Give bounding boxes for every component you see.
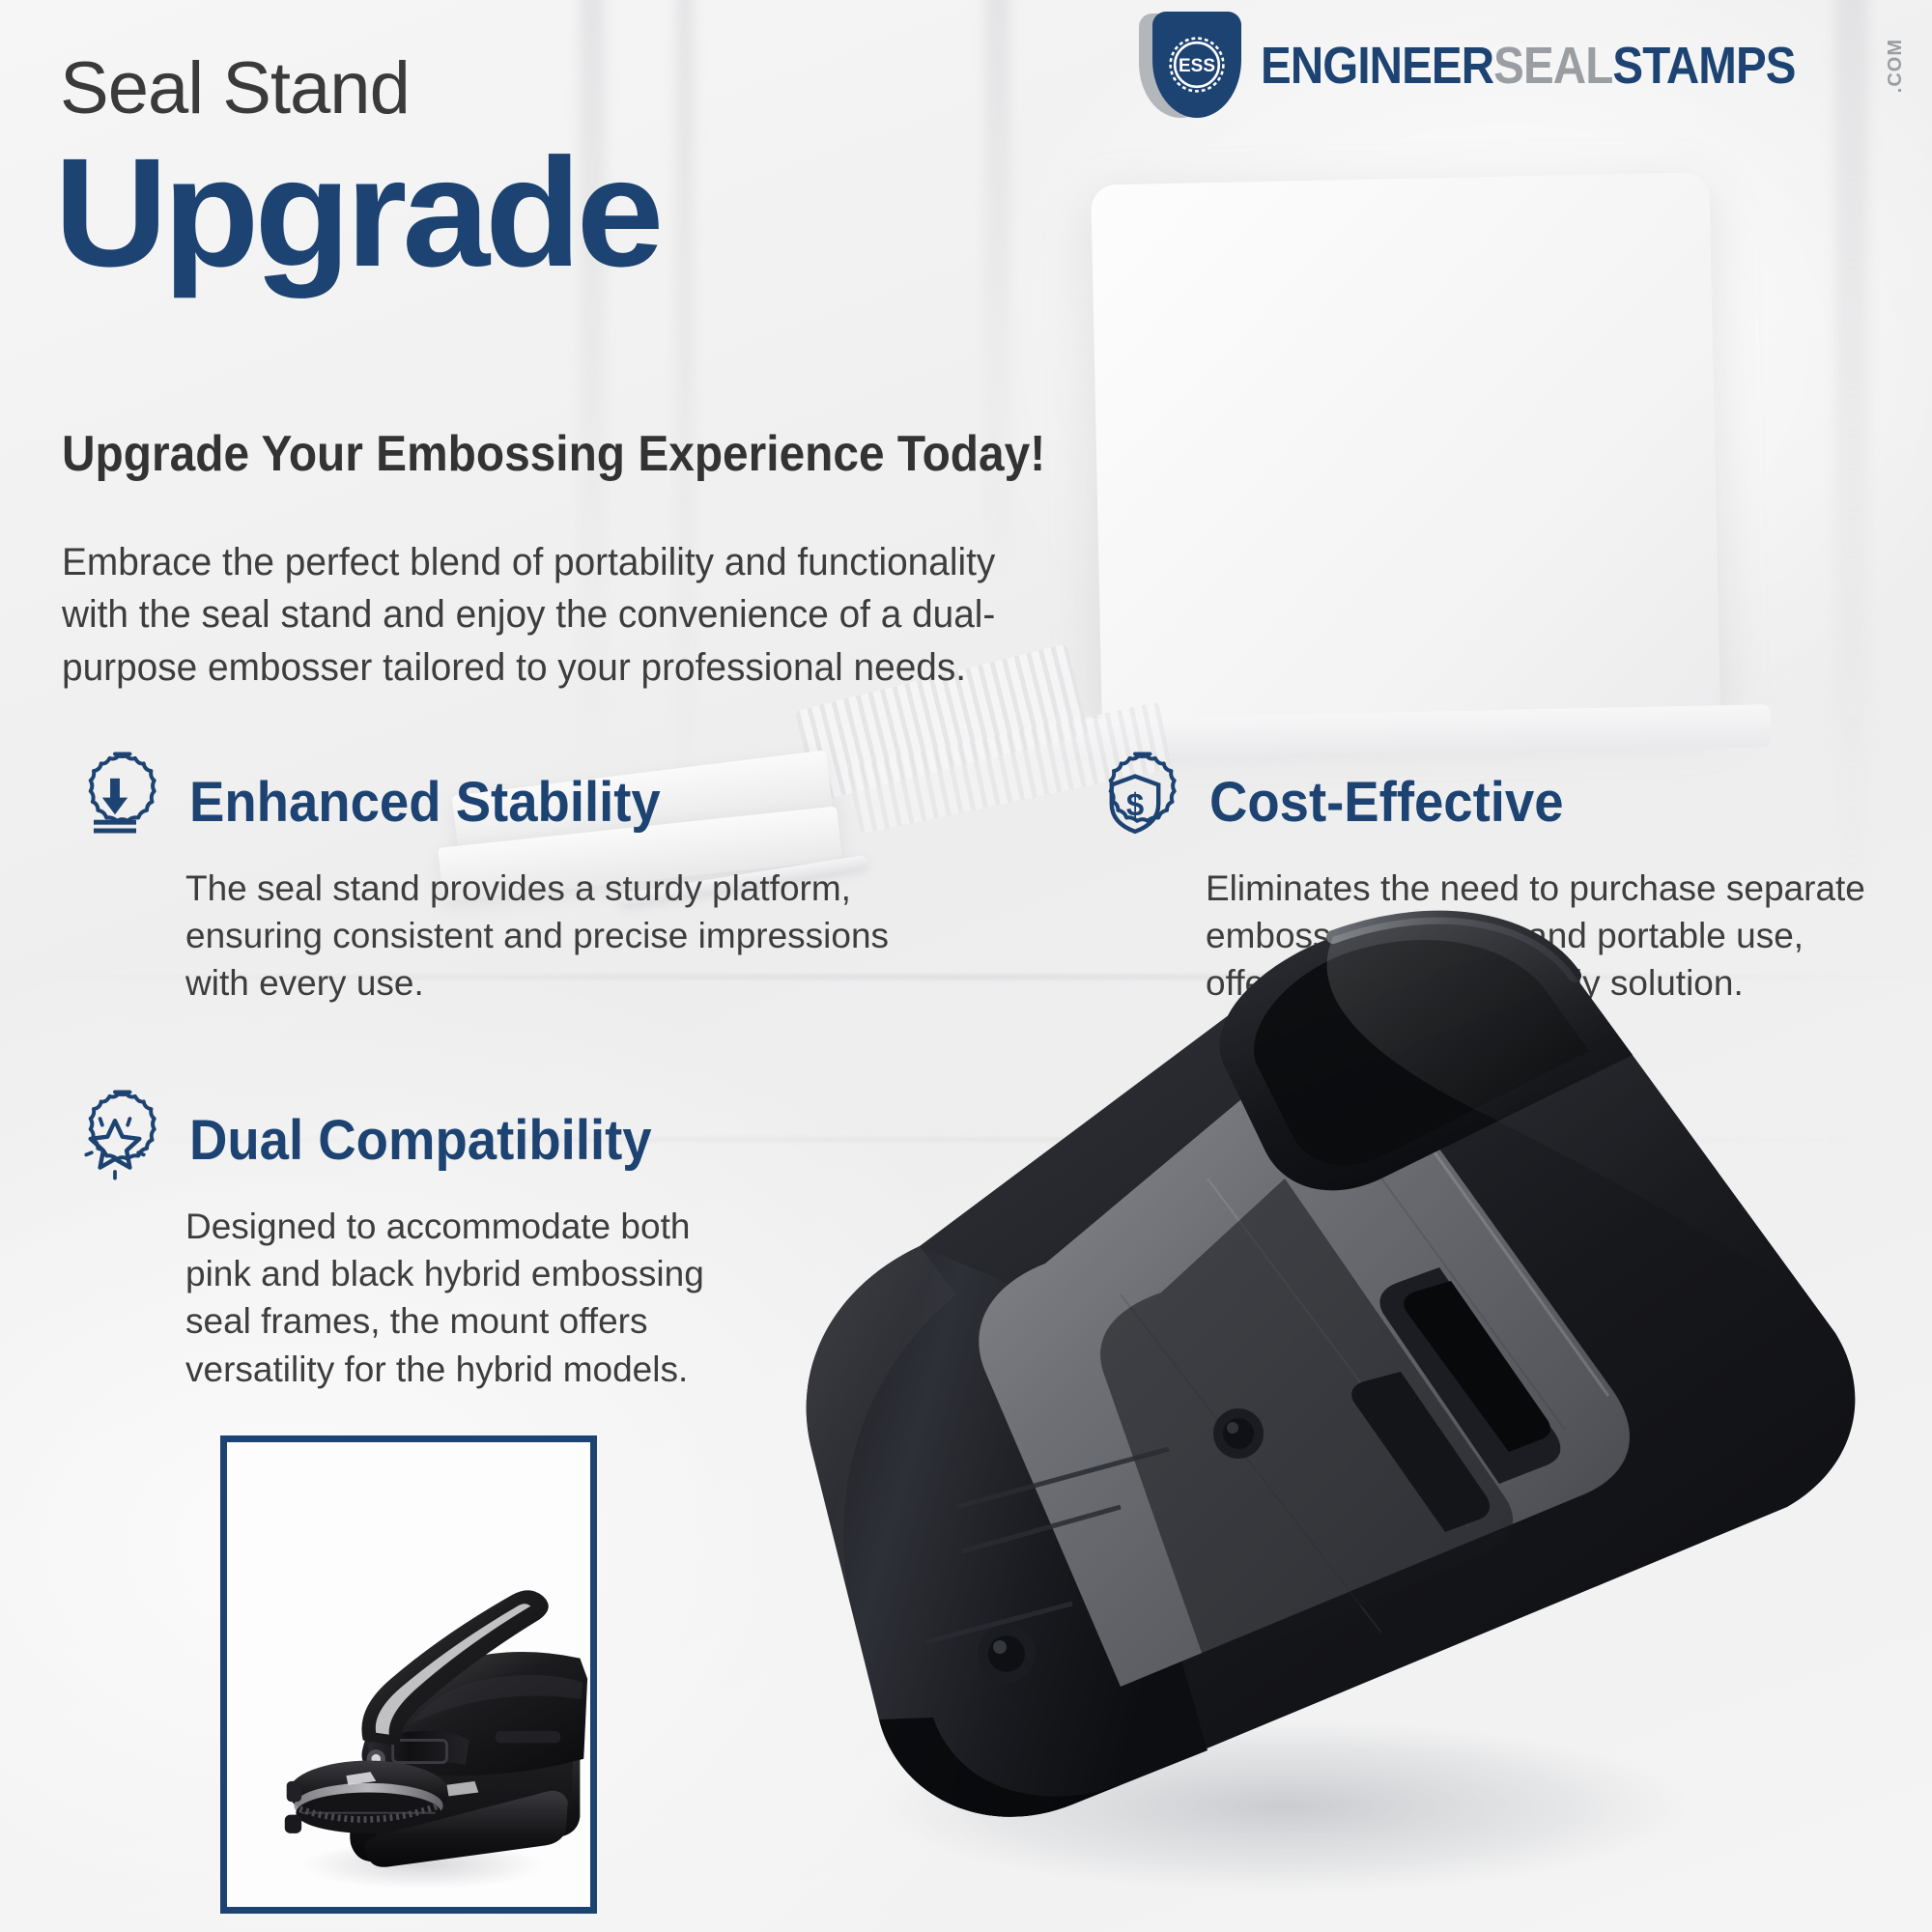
seal-stand-illustration	[667, 831, 1932, 1932]
logo-word-engineer: ENGINEER	[1261, 40, 1493, 92]
ess-mark-text: ESS	[1179, 56, 1215, 76]
star-sparkle-badge-icon	[62, 1087, 168, 1193]
feature-title: Dual Compatibility	[189, 1108, 652, 1173]
page-subheading: Upgrade Your Embossing Experience Today!	[62, 425, 1045, 483]
logo-wordmark: ENGINEER SEAL STAMPS	[1261, 40, 1796, 92]
background-streak	[985, 0, 1010, 580]
logo-word-seal: SEAL	[1493, 40, 1612, 92]
gear-icon: ESS	[1160, 28, 1234, 101]
feature-title: Enhanced Stability	[189, 770, 661, 835]
background-laptop	[1091, 172, 1720, 725]
dollar-glyph: $	[1126, 786, 1144, 822]
hero-product-photo	[667, 831, 1932, 1932]
handheld-embosser-on-stand-illustration	[227, 1442, 590, 1907]
ess-shield-icon: ESS	[1139, 12, 1247, 120]
download-arrow-badge-icon	[62, 749, 168, 855]
feature-title: Cost-Effective	[1209, 770, 1564, 835]
shield-front: ESS	[1152, 12, 1241, 118]
logo-word-stamps: STAMPS	[1612, 40, 1795, 92]
inset-product-photo	[220, 1435, 597, 1914]
page-title: Upgrade	[54, 135, 659, 290]
logo-tld: .COM	[1886, 39, 1905, 93]
background-streak	[676, 0, 694, 831]
page-intro-paragraph: Embrace the perfect blend of portability…	[62, 536, 1009, 694]
inset-photo-stage	[227, 1442, 590, 1907]
brand-logo[interactable]: ESS ENGINEER SEAL STAMPS .COM	[1139, 12, 1905, 120]
page-eyebrow: Seal Stand	[60, 46, 410, 130]
